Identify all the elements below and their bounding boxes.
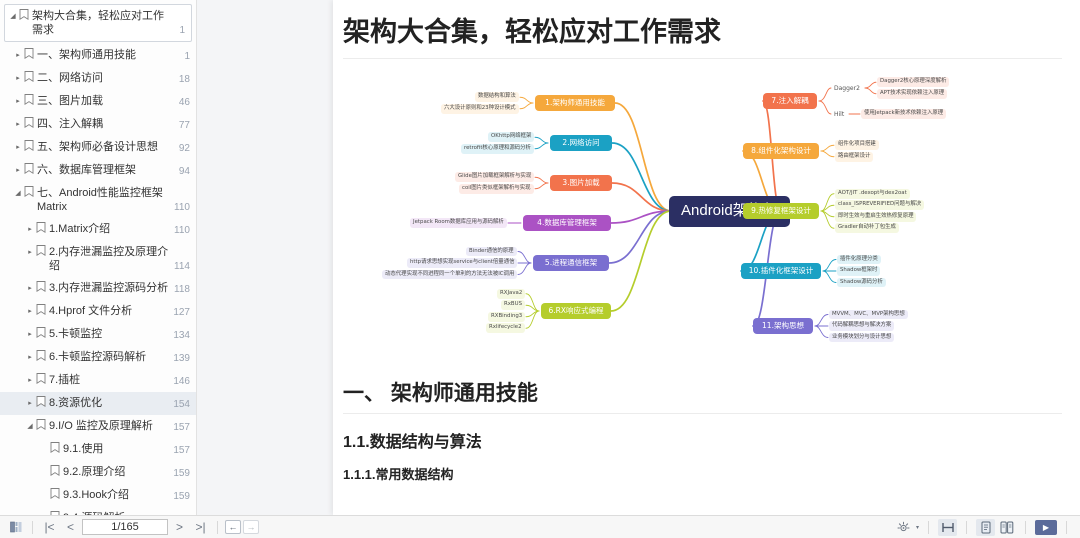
outline-item-page: 159: [173, 490, 190, 504]
bookmark-icon: [36, 304, 49, 317]
chevron-right-icon[interactable]: ▸: [24, 396, 36, 411]
mindmap-branch-node: 9.热修复框架设计: [743, 203, 819, 219]
mindmap-leaf-node: APT技术实现依赖注入原理: [877, 89, 947, 99]
outline-item[interactable]: ▸5.卡顿监控134: [0, 323, 196, 346]
display-mode-group: ▾: [894, 519, 1074, 536]
outline-item-page: 160: [173, 513, 190, 515]
subsubsection-heading: 1.1.1.常用数据结构: [343, 464, 1062, 483]
outline-item[interactable]: ▸9.4.源码解析160: [0, 507, 196, 515]
mindmap-connector: [520, 97, 533, 103]
outline-item-page: 46: [179, 96, 190, 110]
single-page-icon[interactable]: [976, 519, 995, 536]
outline-item-page: 110: [174, 201, 190, 215]
chevron-right-icon[interactable]: ▸: [38, 511, 50, 515]
outline-item-page: 146: [173, 375, 190, 389]
mindmap-leaf-node: RXBinding3: [488, 312, 525, 322]
outline-item[interactable]: ▸六、数据库管理框架94: [0, 159, 196, 182]
bookmark-icon: [50, 465, 63, 478]
mindmap-connector: [821, 194, 834, 211]
mindmap-leaf-node: Shadow框架时: [837, 266, 880, 276]
outline-item[interactable]: ▸4.Hprof 文件分析127: [0, 300, 196, 323]
chevron-down-icon[interactable]: ▾: [916, 524, 919, 531]
mindmap-leaf-node: 六大设计原则和23种设计模式: [441, 104, 519, 114]
mindmap-connector: [865, 88, 876, 94]
divider: [1066, 521, 1067, 534]
outline-item[interactable]: ◢七、Android性能监控框架 Matrix110: [0, 182, 196, 218]
mindmap-leaf-node: 使用Jetpack新技术依赖注入原理: [861, 109, 946, 119]
outline-item[interactable]: ▸一、架构师通用技能1: [0, 44, 196, 67]
mindmap-connector: [821, 145, 834, 151]
brightness-icon[interactable]: [894, 519, 913, 536]
bookmark-icon: [36, 396, 49, 409]
outline-item-label: 一、架构师通用技能: [37, 48, 196, 62]
mindmap-branch-node: 10.插件化框架设计: [741, 263, 821, 279]
outline-item-page: 92: [179, 142, 190, 156]
subsection-heading: 1.1.数据结构与算法: [343, 428, 1062, 452]
chevron-right-icon[interactable]: ▸: [24, 327, 36, 342]
bookmark-icon: [24, 71, 37, 84]
document-viewer[interactable]: 架构大合集，轻松应对工作需求 Android架构师1.架构师通用技能数据结构和算…: [197, 0, 1080, 515]
title-divider: [343, 58, 1062, 59]
mindmap-branch-node: 7.注入解耦: [763, 93, 817, 109]
mindmap-connector: [535, 177, 548, 183]
mindmap-leaf-node: RxBUS: [501, 300, 525, 310]
section-heading: 一、 架构师通用技能: [343, 377, 1062, 407]
outline-item-page: 157: [173, 444, 190, 458]
document-page: 架构大合集，轻松应对工作需求 Android架构师1.架构师通用技能数据结构和算…: [333, 0, 1080, 515]
outline-item[interactable]: ▸三、图片加载46: [0, 90, 196, 113]
mindmap-branch-node: 8.组件化架构设计: [743, 143, 819, 159]
chevron-right-icon[interactable]: ▸: [24, 350, 36, 365]
outline-item-page: 94: [179, 165, 190, 179]
mindmap-leaf-node: 插件化原理分类: [837, 255, 881, 265]
divider: [32, 521, 33, 534]
mindmap-connector: [821, 211, 834, 228]
history-nav-group: ← →: [225, 520, 259, 534]
presentation-mode-button[interactable]: ▶: [1035, 520, 1057, 535]
mindmap-connector: [821, 151, 834, 157]
outline-item[interactable]: ▸二、网络访问18: [0, 67, 196, 90]
divider: [1025, 521, 1026, 534]
outline-item[interactable]: ▸9.2.原理介绍159: [0, 461, 196, 484]
mindmap-leaf-node: 数据结构和算法: [475, 92, 519, 102]
reader-body: ◢架构大合集，轻松应对工作需求1▸一、架构师通用技能1▸二、网络访问18▸三、图…: [0, 0, 1080, 515]
chevron-right-icon[interactable]: ▸: [24, 245, 36, 260]
mindmap-leaf-node: Binder通信的原理: [466, 247, 517, 257]
outline-item[interactable]: ▸1.Matrix介绍110: [0, 218, 196, 241]
mindmap-leaf-node: coil图片类似框架解析与实现: [459, 184, 534, 194]
outline-item[interactable]: ▸6.卡顿监控源码解析139: [0, 346, 196, 369]
bookmark-icon: [36, 222, 49, 235]
bookmark-icon: [50, 488, 63, 501]
previous-view-button[interactable]: ←: [225, 520, 241, 534]
mindmap-connector: [609, 211, 671, 263]
mindmap-connector: [815, 315, 828, 327]
outline-item-label: 三、图片加载: [37, 94, 196, 108]
mindmap-connector: [518, 252, 531, 264]
outline-item-page: 139: [173, 352, 190, 366]
bookmark-icon: [24, 186, 37, 199]
bookmark-icon: [36, 327, 49, 340]
mindmap-branch-node: 5.进程通信框架: [533, 255, 609, 271]
bookmark-icon: [24, 94, 37, 107]
page-number-input[interactable]: 1/165: [82, 519, 168, 535]
mindmap-connector: [535, 183, 548, 189]
mindmap-connector: [535, 143, 548, 149]
page-title: 架构大合集，轻松应对工作需求: [343, 12, 1062, 52]
mindmap-branch-node: 6.RX响应式编程: [541, 303, 611, 319]
outline-item-page: 118: [174, 283, 190, 297]
outline-item[interactable]: ▸3.内存泄漏监控源码分析118: [0, 277, 196, 300]
bookmark-icon: [36, 350, 49, 363]
status-bar: |< < 1/165 > >| ← →: [0, 515, 1080, 538]
mindmap-leaf-node: Gradler自动补丁包生成: [835, 223, 899, 233]
chevron-right-icon[interactable]: ▸: [12, 117, 24, 132]
chevron-right-icon[interactable]: ▸: [12, 163, 24, 178]
divider: [217, 521, 218, 534]
outline-item[interactable]: ▸四、注入解耦77: [0, 113, 196, 136]
mindmap-connector: [815, 326, 828, 338]
divider: [966, 521, 967, 534]
double-page-icon[interactable]: [997, 519, 1016, 536]
mindmap-connector: [819, 101, 831, 114]
outline-item-page: 114: [174, 260, 190, 274]
mindmap-leaf-node: MVVM、MVC、MVP架构思想: [829, 310, 908, 320]
mindmap-connector: [615, 103, 671, 211]
chevron-right-icon[interactable]: ▸: [12, 94, 24, 109]
outline-item-page: 154: [173, 398, 190, 412]
next-view-button[interactable]: →: [243, 520, 259, 534]
bookmark-icon: [36, 373, 49, 386]
mindmap-branch-node: 1.架构师通用技能: [535, 95, 615, 111]
bookmark-icon: [24, 48, 37, 61]
outline-item-label: 七、Android性能监控框架 Matrix: [37, 186, 196, 214]
outline-item[interactable]: ▸8.资源优化154: [0, 392, 196, 415]
outline-item-page: 134: [173, 329, 190, 343]
bookmark-icon: [24, 117, 37, 130]
outline-item-page: 18: [179, 73, 190, 87]
outline-item[interactable]: ▸7.插桩146: [0, 369, 196, 392]
bookmark-icon: [36, 245, 49, 258]
mindmap-connector: [535, 137, 548, 143]
chevron-right-icon[interactable]: ▸: [24, 222, 36, 237]
outline-item-page: 77: [179, 119, 190, 133]
pdf-reader-window: ◢架构大合集，轻松应对工作需求1▸一、架构师通用技能1▸二、网络访问18▸三、图…: [0, 0, 1080, 538]
outline-sidebar[interactable]: ◢架构大合集，轻松应对工作需求1▸一、架构师通用技能1▸二、网络访问18▸三、图…: [0, 0, 197, 515]
mindmap-leaf-node: RXJava2: [497, 289, 525, 299]
mindmap-connector: [518, 263, 531, 275]
mindmap-connector: [526, 294, 539, 311]
outline-item-page: 110: [174, 224, 190, 238]
mindmap-connector: [520, 103, 533, 109]
mindmap-leaf-node: 业务模块划分与设计思想: [829, 333, 894, 343]
outline-item-page: 159: [173, 467, 190, 481]
mindmap-leaf-node: Glide图片加载框架解析与实现: [455, 172, 534, 182]
outline-item-page: 157: [173, 421, 190, 435]
prev-page-button[interactable]: <: [61, 519, 80, 536]
chevron-right-icon[interactable]: ▸: [24, 281, 36, 296]
outline-item-label: 二、网络访问: [37, 71, 196, 85]
sidebar-toggle-group: [6, 519, 25, 536]
chevron-right-icon[interactable]: ▸: [24, 304, 36, 319]
chevron-right-icon[interactable]: ▸: [24, 373, 36, 388]
chevron-right-icon[interactable]: ▸: [12, 71, 24, 86]
bookmark-icon: [24, 140, 37, 153]
bookmark-icon: [19, 9, 32, 22]
mindmap-branch-node: 11.架构思想: [753, 318, 813, 334]
section-divider: [343, 413, 1062, 414]
outline-item-page: 1: [184, 50, 190, 64]
mindmap-leaf-node: 即时生效与重启生效热修复原理: [835, 212, 916, 222]
outline-item[interactable]: ▸五、架构师必备设计思想92: [0, 136, 196, 159]
mindmap-sub-node: Hilt: [831, 109, 847, 120]
outline-item-page: 127: [173, 306, 190, 320]
mindmap-connector: [819, 88, 831, 101]
fit-width-icon[interactable]: [938, 519, 957, 536]
outline-item[interactable]: ◢9.I/O 监控及原理解析157: [0, 415, 196, 438]
bookmark-icon: [36, 419, 49, 432]
mindmap-branch-node: 2.网络访问: [550, 135, 612, 151]
bookmark-icon: [50, 442, 63, 455]
outline-item-page: 1: [179, 24, 185, 38]
outline-list: ◢架构大合集，轻松应对工作需求1▸一、架构师通用技能1▸二、网络访问18▸三、图…: [0, 0, 196, 515]
mindmap-leaf-node: OKhttp网络框架: [488, 132, 534, 142]
mindmap-sub-node: Dagger2: [831, 83, 863, 94]
chevron-right-icon[interactable]: ▸: [12, 48, 24, 63]
mindmap-leaf-node: http请求思想实现service与client倍量通信: [407, 258, 517, 268]
chevron-down-icon[interactable]: ◢: [7, 9, 19, 24]
mindmap-leaf-node: Dagger2核心原理深度解析: [877, 77, 949, 87]
mindmap-connector: [526, 311, 539, 328]
mindmap-figure: Android架构师1.架构师通用技能数据结构和算法六大设计原则和23种设计模式…: [343, 63, 1062, 363]
chevron-down-icon[interactable]: ◢: [24, 419, 36, 434]
mindmap-leaf-node: Jetpack Room数据库应用与源码解析: [410, 218, 507, 228]
outline-item[interactable]: ▸9.1.使用157: [0, 438, 196, 461]
next-page-button[interactable]: >: [170, 519, 189, 536]
chevron-down-icon[interactable]: ◢: [12, 186, 24, 201]
bookmark-icon: [50, 511, 63, 515]
page-nav-group: |< < 1/165 > >|: [40, 519, 210, 536]
last-page-button[interactable]: >|: [191, 519, 210, 536]
mindmap-leaf-node: 组件化项目搭建: [835, 140, 879, 150]
mindmap-leaf-node: 代码解耦思想与解决方案: [829, 321, 894, 331]
mindmap-leaf-node: 路由框架设计: [835, 152, 873, 162]
mindmap-leaf-node: class_ISPREVERIFIED问题与解决: [835, 200, 924, 210]
outline-item-label: 六、数据库管理框架: [37, 163, 196, 177]
outline-item[interactable]: ◢架构大合集，轻松应对工作需求1: [4, 4, 192, 42]
divider: [928, 521, 929, 534]
mindmap-leaf-node: 动态代理实现不同进程同一个单利的方法无法被IC调用: [382, 270, 517, 280]
mindmap-leaf-node: retrofit核心原理和源码分析: [461, 144, 534, 154]
outline-item-label: 五、架构师必备设计思想: [37, 140, 196, 154]
outline-item[interactable]: ▸2.内存泄漏监控及原理介绍114: [0, 241, 196, 277]
chevron-right-icon[interactable]: ▸: [12, 140, 24, 155]
outline-item-label: 四、注入解耦: [37, 117, 196, 131]
mindmap-leaf-node: Shadow源码分析: [837, 278, 886, 288]
mindmap-leaf-node: Rxlifecycle2: [486, 323, 525, 333]
mindmap-connector: [823, 271, 836, 283]
bookmark-icon: [24, 163, 37, 176]
mindmap-branch-node: 3.图片加载: [550, 175, 612, 191]
thumbnail-icon[interactable]: [6, 519, 25, 536]
outline-item[interactable]: ▸9.3.Hook介绍159: [0, 484, 196, 507]
outline-item-label: 架构大合集，轻松应对工作需求: [32, 9, 191, 37]
mindmap-connector: [865, 82, 876, 88]
mindmap-connector: [823, 260, 836, 272]
bookmark-icon: [36, 281, 49, 294]
mindmap-branch-node: 4.数据库管理框架: [523, 215, 611, 231]
mindmap-leaf-node: AOT/JIT .dexopt与dex2oat: [835, 189, 910, 199]
first-page-button[interactable]: |<: [40, 519, 59, 536]
